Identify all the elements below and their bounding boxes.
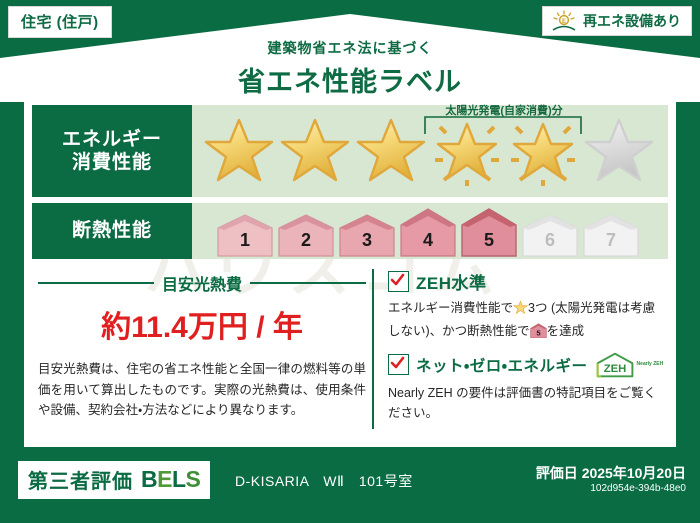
house-5-icon: 5 [530, 323, 547, 344]
svg-text:ZEH: ZEH [603, 362, 626, 374]
energy-label-line2: 消費性能 [72, 151, 152, 174]
insulation-house-3-label: 3 [338, 230, 396, 251]
net-zero-energy-title: ネット・ゼロ・エネルギー [416, 354, 588, 376]
star-3 [354, 114, 428, 188]
zeh-standard-body-post: を達成 [547, 324, 585, 338]
insulation-house-2-label: 2 [277, 230, 335, 251]
insulation-house-5: 5 [460, 207, 518, 257]
star-2 [278, 114, 352, 188]
main-card: ハウスコム エネルギー 消費性能 太陽光発電(自家消費)分 [24, 99, 676, 447]
zeh-standard-item: ZEH水準 エネルギー消費性能で 3つ (太陽光発電は考慮しない)、かつ断熱性能… [388, 269, 664, 345]
net-zero-energy-header: ネット・ゼロ・エネルギー ZEH Nearly ZEH [388, 351, 664, 379]
category-tag: 住宅 (住戸) [8, 6, 112, 38]
insulation-house-6-label: 6 [521, 230, 579, 251]
insulation-house-1-label: 1 [216, 230, 274, 251]
zeh-standard-body: エネルギー消費性能で 3つ (太陽光発電は考慮しない)、かつ断熱性能で 5 を達… [388, 298, 664, 345]
energy-row-label: エネルギー 消費性能 [32, 105, 192, 197]
building-name: D-KISARIA WⅡ 101号室 [235, 471, 413, 491]
title-subtitle: 建築物省エネ法に基づく [0, 38, 700, 58]
utility-cost-column: 目安光熱費 約11.4万円 / 年 目安光熱費は、住宅の省エネ性能と全国一律の燃… [32, 269, 372, 429]
insulation-house-5-label: 5 [460, 230, 518, 251]
utility-cost-value: 約11.4万円 / 年 [38, 302, 366, 346]
bels-en-logo: BELS [141, 466, 200, 493]
zeh-standard-checkbox[interactable] [388, 271, 409, 292]
insulation-house-7-label: 7 [582, 230, 640, 251]
net-zero-energy-item: ネット・ゼロ・エネルギー ZEH Nearly ZEH [388, 351, 664, 424]
energy-rating-row: エネルギー 消費性能 太陽光発電(自家消費)分 [32, 105, 668, 197]
star-1 [202, 114, 276, 188]
net-zero-energy-checkbox[interactable] [388, 354, 409, 375]
header-band: 住宅 (住戸) E 再エネ設備あり 建築物省エネ法に基づく 省エネ性能ラベル [0, 0, 700, 102]
bels-badge: 第三者評価 BELS [18, 461, 210, 499]
insulation-rating-row: 断熱性能 1 2 [32, 203, 668, 259]
title-block: 建築物省エネ法に基づく 省エネ性能ラベル [0, 38, 700, 99]
insulation-house-2: 2 [277, 213, 335, 257]
renewable-badge-label: 再エネ設備あり [583, 11, 681, 31]
footer-band: 第三者評価 BELS D-KISARIA WⅡ 101号室 評価日 2025年1… [0, 447, 700, 523]
rule-left [38, 282, 154, 284]
zeh-standard-body-pre: エネルギー消費性能で [388, 301, 513, 315]
energy-label-line1: エネルギー [62, 128, 162, 151]
zeh-logo-sub: Nearly ZEH [637, 362, 664, 367]
evaluation-date: 評価日 2025年10月20日 [536, 463, 686, 483]
renewable-energy-badge: E 再エネ設備あり [542, 6, 692, 36]
solar-bracket-label: 太陽光発電(自家消費)分 [420, 102, 588, 118]
utility-cost-heading: 目安光熱費 [38, 271, 366, 295]
insulation-house-scale: 1 2 3 [192, 205, 640, 257]
evaluation-uid: 102d954e-394b-48e0 [590, 483, 686, 494]
energy-performance-label: 住宅 (住戸) E 再エネ設備あり 建築物省エネ法に基づく 省エネ性能ラベル [0, 0, 700, 523]
check-icon [390, 273, 405, 288]
insulation-row-label: 断熱性能 [32, 203, 192, 259]
star-icon [513, 300, 528, 321]
insulation-house-4-label: 4 [399, 230, 457, 251]
bels-ja-label: 第三者評価 [28, 465, 133, 494]
insulation-house-6: 6 [521, 213, 579, 257]
insulation-house-4: 4 [399, 207, 457, 257]
utility-cost-heading-label: 目安光熱費 [162, 271, 242, 295]
svg-text:E: E [562, 19, 566, 25]
utility-cost-note: 目安光熱費は、住宅の省エネ性能と全国一律の燃料等の単価を用いて算出したものです。… [38, 359, 366, 421]
page-title: 省エネ性能ラベル [0, 60, 700, 99]
zeh-column: ZEH水準 エネルギー消費性能で 3つ (太陽光発電は考慮しない)、かつ断熱性能… [372, 269, 668, 429]
insulation-house-3: 3 [338, 213, 396, 257]
insulation-house-7: 7 [582, 213, 640, 257]
zeh-house-logo-icon: ZEH [595, 351, 635, 379]
zeh-logo: ZEH Nearly ZEH [595, 351, 664, 379]
energy-row-body: 太陽光発電(自家消費)分 [192, 105, 668, 197]
zeh-standard-title: ZEH水準 [416, 269, 487, 294]
rule-right [250, 282, 366, 284]
solar-sun-icon: E [551, 10, 577, 32]
star-6-empty [582, 114, 656, 188]
details-columns: 目安光熱費 約11.4万円 / 年 目安光熱費は、住宅の省エネ性能と全国一律の燃… [32, 269, 668, 429]
check-icon [390, 356, 405, 371]
insulation-house-1: 1 [216, 213, 274, 257]
net-zero-energy-body: Nearly ZEH の要件は評価書の特記項目をご覧ください。 [388, 383, 664, 424]
insulation-row-body: 1 2 3 [192, 203, 668, 259]
zeh-standard-header: ZEH水準 [388, 269, 664, 294]
